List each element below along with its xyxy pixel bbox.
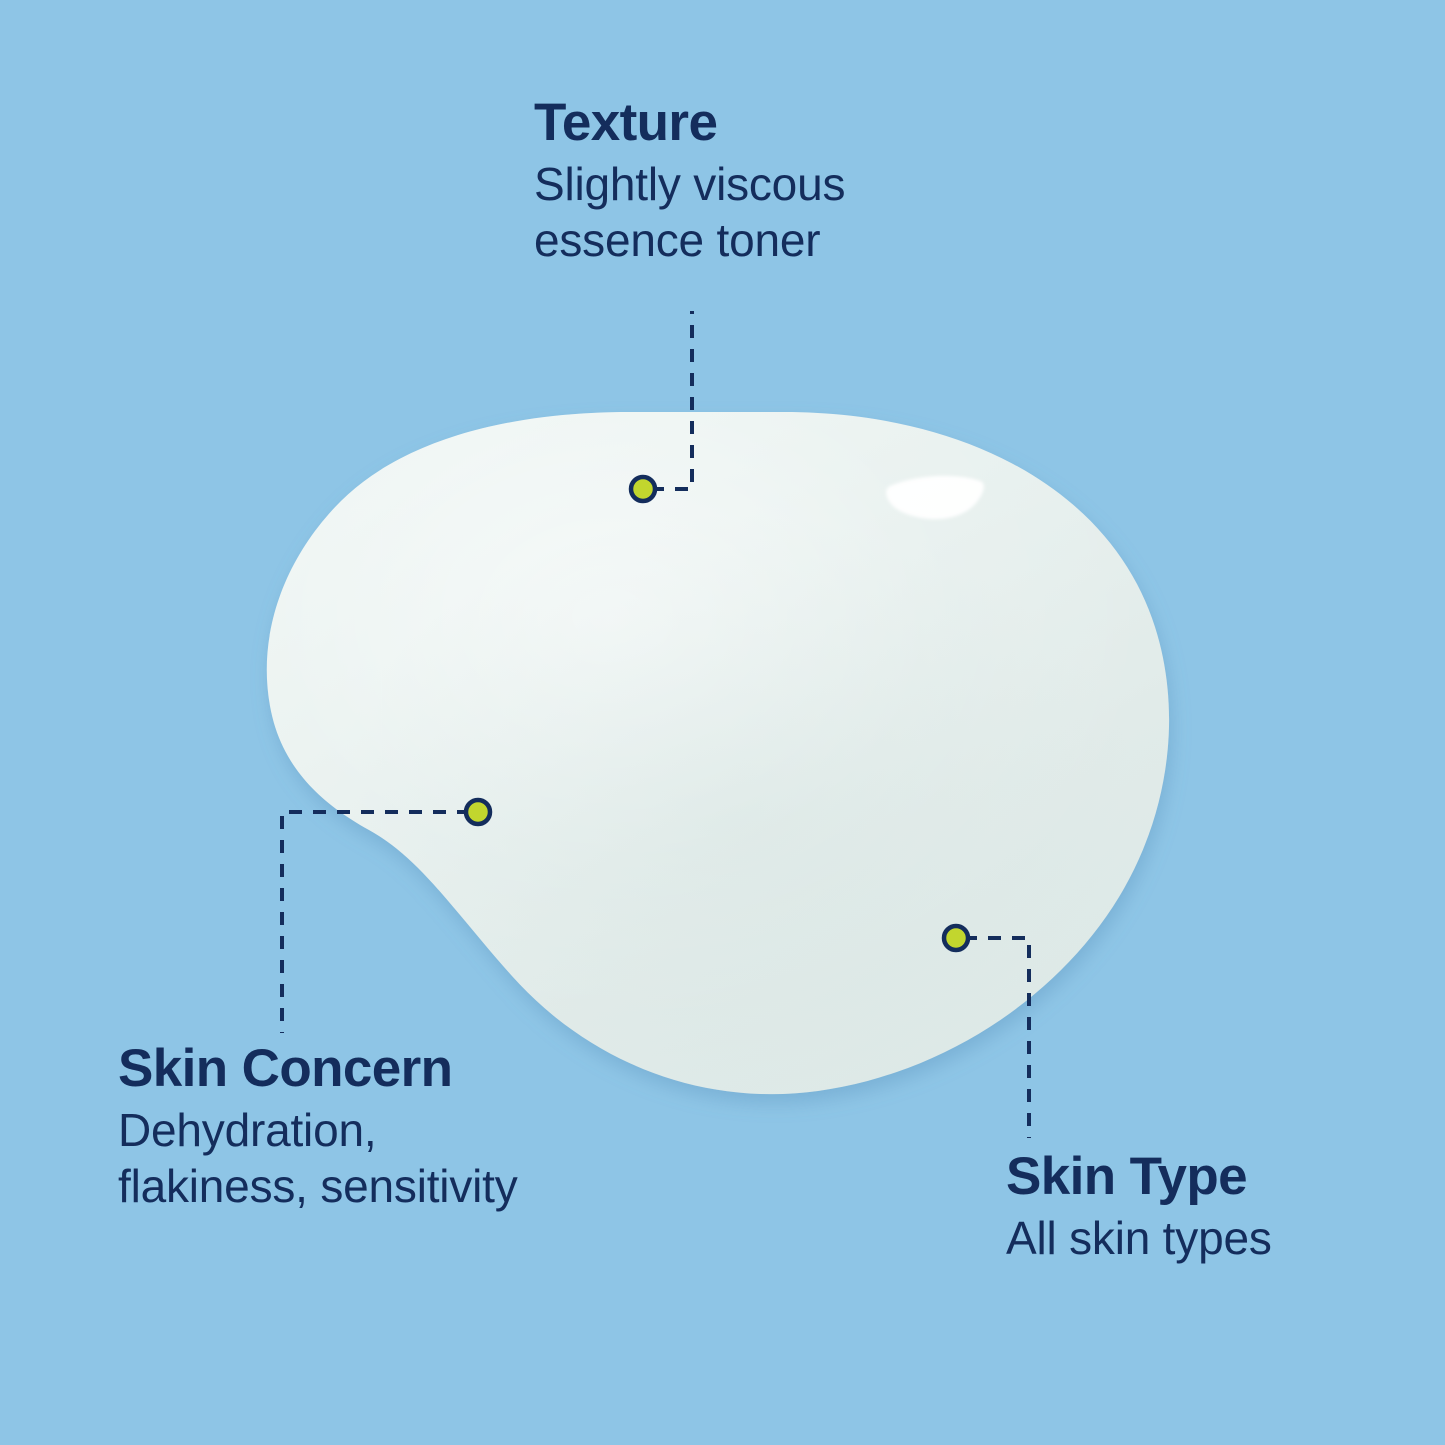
callout-skin-concern-description-line-2: flakiness, sensitivity: [118, 1160, 518, 1212]
texture-marker-hotspot[interactable]: [628, 474, 658, 504]
droplet-shape: [267, 412, 1169, 1094]
callout-texture: Texture Slightly viscous essence toner: [534, 96, 904, 268]
callout-skin-concern: Skin Concern Dehydration, flakiness, sen…: [118, 1042, 588, 1214]
callout-skin-type-description-line-1: All skin types: [1006, 1212, 1272, 1264]
infographic-canvas: Texture Slightly viscous essence toner S…: [0, 0, 1445, 1445]
callout-skin-type: Skin Type All skin types: [1006, 1150, 1336, 1266]
callout-skin-concern-description: Dehydration, flakiness, sensitivity: [118, 1102, 588, 1214]
callout-texture-description-line-2: essence toner: [534, 214, 820, 266]
callout-skin-concern-description-line-1: Dehydration,: [118, 1104, 376, 1156]
callout-texture-description: Slightly viscous essence toner: [534, 156, 904, 268]
callout-skin-type-description: All skin types: [1006, 1210, 1336, 1266]
callout-skin-concern-title: Skin Concern: [118, 1042, 588, 1096]
callout-texture-title: Texture: [534, 96, 904, 150]
callout-skin-type-title: Skin Type: [1006, 1150, 1336, 1204]
skin-type-marker-hotspot[interactable]: [941, 923, 971, 953]
skin-concern-marker-hotspot[interactable]: [463, 797, 493, 827]
callout-texture-description-line-1: Slightly viscous: [534, 158, 845, 210]
